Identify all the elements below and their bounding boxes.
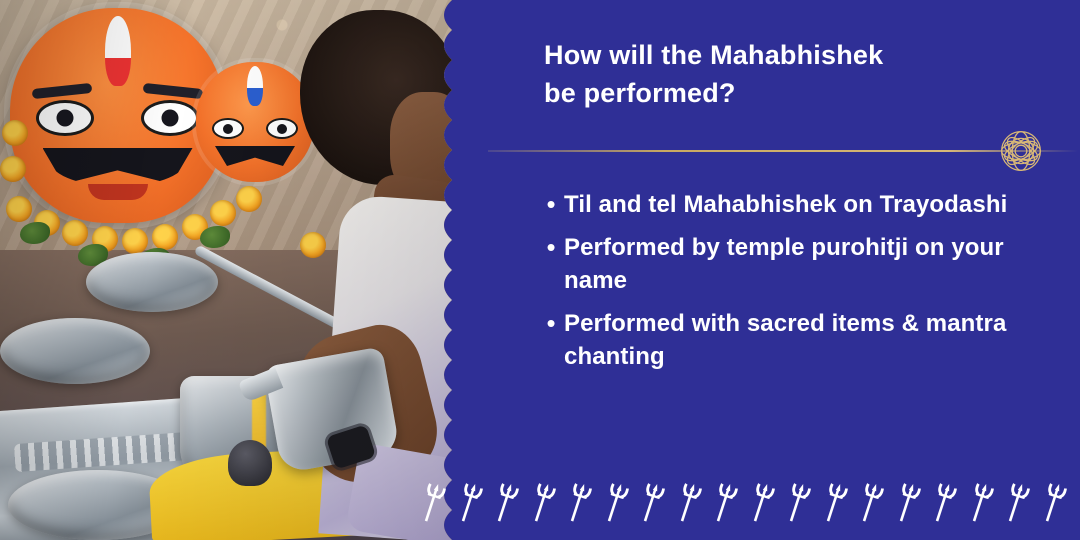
list-item: • Performed with sacred items & mantra c… [538, 307, 1048, 373]
bullet-text: Til and tel Mahabhishek on Trayodashi [564, 188, 1007, 221]
list-item: • Performed by temple purohitji on your … [538, 231, 1048, 297]
title-line-1: How will the Mahabhishek [544, 36, 1014, 74]
bullet-marker: • [538, 188, 564, 221]
trident-icon [962, 480, 997, 525]
slide-root: How will the Mahabhishek be performed? •… [0, 0, 1080, 540]
trident-icon [743, 480, 778, 525]
bullet-marker: • [538, 307, 564, 340]
bullet-text: Performed with sacred items & mantra cha… [564, 307, 1048, 373]
trident-icon [634, 480, 669, 525]
trident-icon [999, 480, 1034, 525]
trident-icon [414, 480, 449, 525]
trident-icon [597, 480, 632, 525]
trident-icon [560, 480, 595, 525]
photo-shading [0, 0, 470, 540]
trident-icon [451, 480, 486, 525]
mandala-icon [990, 120, 1052, 182]
trident-icon [670, 480, 705, 525]
bullet-text: Performed by temple purohitji on your na… [564, 231, 1048, 297]
trident-icon [926, 480, 961, 525]
trident-strip [420, 480, 1065, 526]
trident-icon [707, 480, 742, 525]
title-line-2: be performed? [544, 74, 1014, 112]
list-item: • Til and tel Mahabhishek on Trayodashi [538, 188, 1048, 221]
page-title: How will the Mahabhishek be performed? [544, 36, 1014, 113]
bullet-list: • Til and tel Mahabhishek on Trayodashi … [538, 188, 1048, 384]
temple-mahabhishek-photo [0, 0, 470, 540]
trident-icon [780, 480, 815, 525]
trident-icon [524, 480, 559, 525]
content-panel: How will the Mahabhishek be performed? •… [520, 0, 1080, 540]
trident-icon [816, 480, 851, 525]
trident-icon [889, 480, 924, 525]
trident-icon [853, 480, 888, 525]
bullet-marker: • [538, 231, 564, 264]
trident-icon [487, 480, 522, 525]
